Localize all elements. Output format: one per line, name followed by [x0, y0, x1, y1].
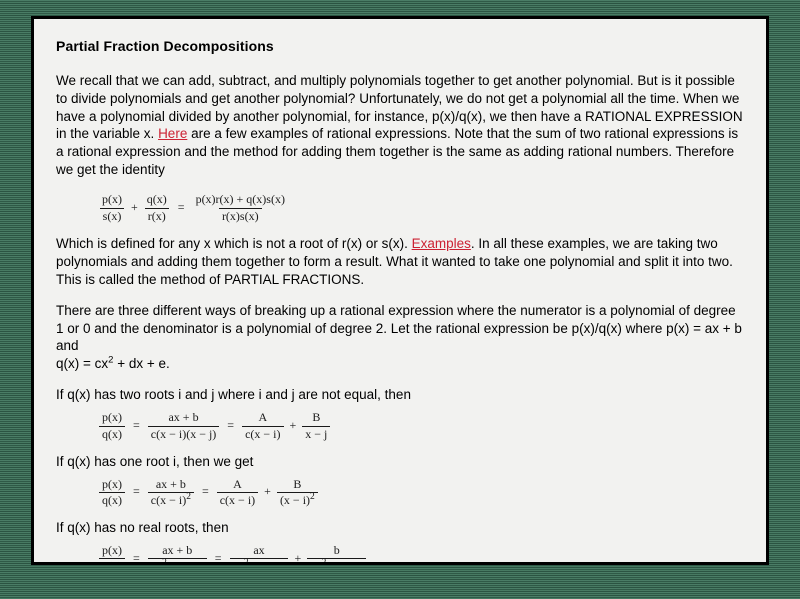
exponent-two: 2 — [310, 492, 315, 502]
case-label-no-roots: If q(x) has no real roots, then — [56, 519, 744, 537]
three-ways-text-b-pre: q(x) = cx — [56, 356, 108, 371]
operator-equals-2: = — [202, 484, 209, 500]
case-label-two-roots: If q(x) has two roots i and j where i an… — [56, 386, 744, 404]
exponent-two: 2 — [186, 492, 191, 502]
formula-one-root: p(x) q(x) = ax + b c(x − i)2 = A c(x − i… — [56, 477, 744, 507]
formula-no-roots: p(x) q(x) = ax + b cx2+dx + e = ax cx2+d… — [56, 543, 744, 565]
fraction-p-over-q: p(x) q(x) — [99, 411, 125, 440]
operator-equals-1: = — [133, 418, 140, 434]
fraction-p-over-q: p(x) q(x) — [99, 544, 125, 565]
operator-equals-2: = — [227, 418, 234, 434]
operator-equals-1: = — [133, 551, 140, 565]
document-content: Partial Fraction Decompositions We recal… — [34, 19, 766, 565]
fraction-q-over-r: q(x) r(x) — [144, 193, 170, 222]
link-examples-1[interactable]: Examples — [412, 236, 471, 251]
fraction-expanded: ax + b c(x − i)(x − j) — [148, 411, 220, 440]
fraction-term-b: B (x − i)2 — [277, 478, 318, 507]
operator-equals: = — [178, 200, 185, 216]
link-here[interactable]: Here — [158, 126, 187, 141]
operator-plus: + — [294, 551, 301, 565]
fraction-term-b: B x − j — [302, 411, 330, 440]
three-ways-text-a: There are three different ways of breaki… — [56, 303, 742, 354]
fraction-p-over-s: p(x) s(x) — [99, 193, 125, 222]
fraction-term-a: A c(x − i) — [217, 478, 258, 507]
fraction-term-a: ax cx2+dx + e — [230, 544, 289, 565]
operator-plus: + — [131, 200, 138, 216]
paragraph-defined: Which is defined for any x which is not … — [56, 235, 744, 289]
three-ways-text-b-post: + dx + e. — [113, 356, 169, 371]
operator-equals-2: = — [215, 551, 222, 565]
operator-equals-1: = — [133, 484, 140, 500]
document-panel: Partial Fraction Decompositions We recal… — [31, 16, 769, 565]
formula-identity: p(x) s(x) + q(x) r(x) = p(x)r(x) + q(x)s… — [56, 192, 744, 222]
defined-text-a: Which is defined for any x which is not … — [56, 236, 412, 251]
case-label-one-root: If q(x) has one root i, then we get — [56, 453, 744, 471]
paragraph-three-ways: There are three different ways of breaki… — [56, 302, 744, 374]
fraction-expanded: ax + b c(x − i)2 — [148, 478, 194, 507]
paragraph-intro: We recall that we can add, subtract, and… — [56, 72, 744, 180]
fraction-term-b: b cx2+dx + e — [307, 544, 366, 565]
operator-plus: + — [290, 418, 297, 434]
operator-plus: + — [264, 484, 271, 500]
formula-two-roots: p(x) q(x) = ax + b c(x − i)(x − j) = A c… — [56, 410, 744, 440]
page-title: Partial Fraction Decompositions — [56, 37, 744, 56]
fraction-expanded: ax + b cx2+dx + e — [148, 544, 207, 565]
fraction-p-over-q: p(x) q(x) — [99, 478, 125, 507]
fraction-combined: p(x)r(x) + q(x)s(x) r(x)s(x) — [193, 193, 288, 222]
fraction-term-a: A c(x − i) — [242, 411, 283, 440]
